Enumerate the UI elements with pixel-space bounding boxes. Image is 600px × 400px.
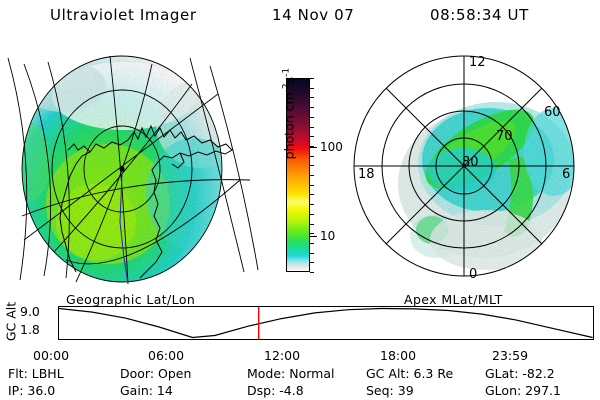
- colorbar-minor-tick: [310, 88, 314, 89]
- mlt-polar-panel[interactable]: 12 18 6 0 60 70 80: [336, 44, 596, 294]
- observation-time: 08:58:34 UT: [430, 6, 529, 24]
- time-label-3: 18:00: [380, 348, 416, 363]
- status-mode: Mode: Normal: [247, 366, 334, 381]
- colorbar-axis-text-main: photon cm: [282, 92, 297, 159]
- altitude-axis-label: GC Alt: [2, 300, 20, 344]
- observation-date: 14 Nov 07: [272, 6, 354, 24]
- colorbar-minor-tick: [310, 156, 314, 157]
- status-ip: IP: 36.0: [8, 383, 55, 398]
- colorbar-minor-tick: [310, 165, 314, 166]
- status-bar: Flt: LBHL IP: 36.0 Door: Open Gain: 14 M…: [0, 366, 600, 400]
- colorbar-minor-tick: [310, 204, 314, 205]
- colorbar-minor-tick: [310, 262, 314, 263]
- colorbar-minor-tick: [310, 243, 314, 244]
- colorbar-minor-tick: [310, 78, 314, 79]
- pole-marker: [119, 166, 124, 171]
- time-axis-labels: 00:00 06:00 12:00 18:00 23:59: [0, 348, 600, 364]
- altitude-axis-label-text: GC Alt: [4, 300, 19, 344]
- colorbar-minor-tick: [310, 194, 314, 195]
- colorbar-axis-text-mid: s: [282, 77, 297, 84]
- header: Ultraviolet Imager 14 Nov 07 08:58:34 UT: [0, 6, 600, 32]
- instrument-title: Ultraviolet Imager: [50, 6, 197, 24]
- colorbar-minor-tick: [310, 272, 314, 273]
- colorbar-major-tick: [310, 147, 317, 148]
- geographic-plot: [4, 44, 266, 294]
- altitude-tick-high: 9.0: [20, 304, 40, 319]
- colorbar-axis-exponent-2: -1: [281, 68, 291, 77]
- status-dsp: Dsp: -4.8: [247, 383, 304, 398]
- altitude-strip: GC Alt 9.0 1.8: [0, 300, 600, 346]
- status-gc-alt: GC Alt: 6.3 Re: [366, 366, 453, 381]
- mlt-label-top: 12: [469, 55, 486, 70]
- mlt-label-left: 18: [358, 167, 375, 182]
- time-label-4: 23:59: [492, 348, 528, 363]
- colorbar-minor-tick: [310, 127, 314, 128]
- geographic-image-panel[interactable]: [4, 44, 266, 294]
- status-filter: Flt: LBHL: [8, 366, 64, 381]
- mlt-label-right: 6: [562, 167, 570, 182]
- colorbar-minor-tick: [310, 224, 314, 225]
- status-glon: GLon: 297.1: [485, 383, 561, 398]
- altitude-curve: [59, 309, 593, 338]
- colorbar-major-tick: [310, 236, 317, 237]
- colorbar-ticks: 10010: [310, 78, 332, 272]
- aurora-emission-geographic: [4, 44, 266, 294]
- colorbar-minor-tick: [310, 233, 314, 234]
- status-gain: Gain: 14: [120, 383, 173, 398]
- lat-ring-label-60: 60: [544, 105, 561, 120]
- colorbar-minor-tick: [310, 253, 314, 254]
- time-label-1: 06:00: [148, 348, 184, 363]
- lat-ring-label-70: 70: [496, 129, 513, 144]
- colorbar-tick-label-1: 10: [320, 229, 335, 243]
- colorbar-minor-tick: [310, 185, 314, 186]
- colorbar-minor-tick: [310, 97, 314, 98]
- colorbar-minor-tick: [310, 175, 314, 176]
- altitude-curve-svg: [59, 307, 593, 339]
- colorbar-axis-label: photon cm-2s-1: [281, 39, 296, 189]
- colorbar-minor-tick: [310, 117, 314, 118]
- uvi-viewer: Ultraviolet Imager 14 Nov 07 08:58:34 UT: [0, 0, 600, 400]
- lat-ring-label-80: 80: [462, 155, 479, 170]
- mlt-polar-plot: 12 18 6 0 60 70 80: [336, 44, 596, 294]
- status-door: Door: Open: [120, 366, 191, 381]
- time-label-0: 00:00: [33, 348, 69, 363]
- status-seq: Seq: 39: [366, 383, 414, 398]
- altitude-plot[interactable]: [58, 306, 594, 340]
- mlt-label-bottom: 0: [469, 267, 477, 282]
- colorbar-axis-exponent-1: -2: [281, 83, 291, 92]
- colorbar-minor-tick: [310, 136, 314, 137]
- colorbar-minor-tick: [310, 214, 314, 215]
- colorbar: 10010 photon cm-2s-1: [268, 50, 332, 286]
- time-label-2: 12:00: [264, 348, 300, 363]
- colorbar-minor-tick: [310, 107, 314, 108]
- status-glat: GLat: -82.2: [485, 366, 555, 381]
- altitude-tick-low: 1.8: [20, 322, 40, 337]
